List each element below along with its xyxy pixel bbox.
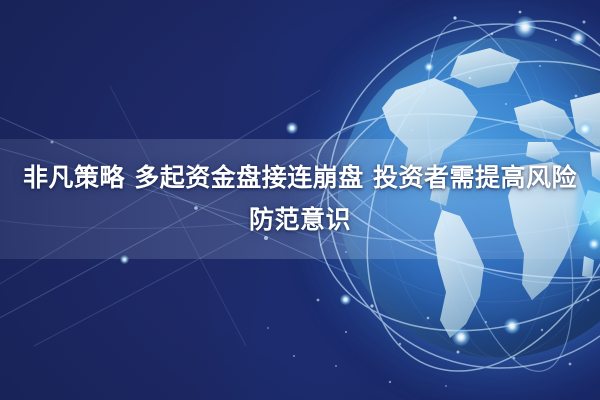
headline-line-1: 非凡策略 多起资金盘接连崩盘 投资者需提高风险 bbox=[23, 158, 577, 198]
headline-line-2: 防范意识 bbox=[249, 200, 351, 240]
news-banner: 非凡策略 多起资金盘接连崩盘 投资者需提高风险 防范意识 bbox=[0, 0, 600, 400]
headline: 非凡策略 多起资金盘接连崩盘 投资者需提高风险 防范意识 bbox=[0, 139, 600, 259]
